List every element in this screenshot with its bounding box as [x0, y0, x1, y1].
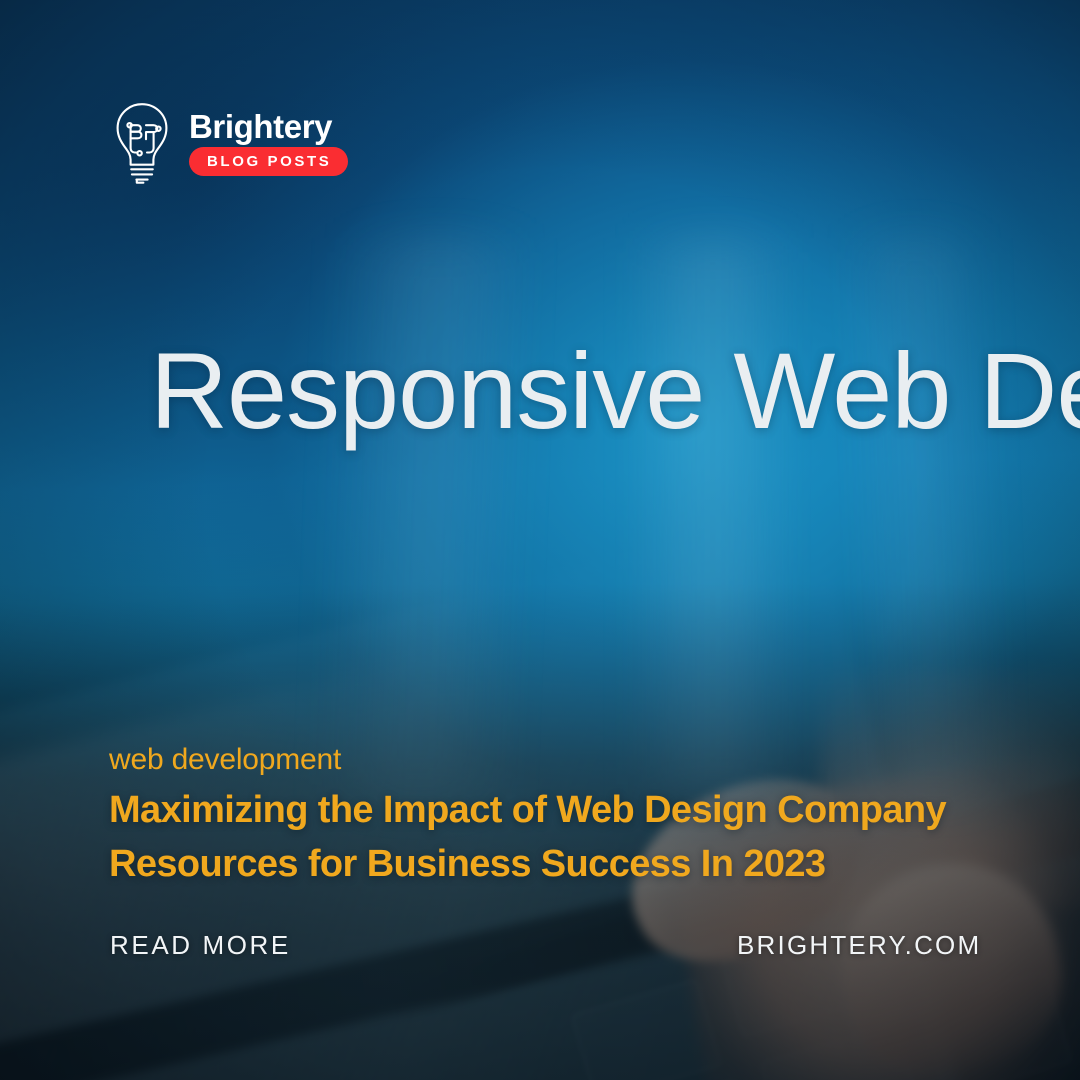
headline-line-1: Maximizing the Impact of Web Design Comp… — [109, 783, 946, 837]
post-category[interactable]: web development — [109, 745, 341, 775]
blog-post-card: Brightery BLOG POSTS Responsive Web De w… — [0, 0, 1080, 1080]
brand-logo[interactable]: Brightery BLOG POSTS — [109, 101, 348, 185]
lightbulb-monogram-icon — [109, 101, 175, 185]
hero-title: Responsive Web De — [150, 332, 1080, 451]
card-content: Brightery BLOG POSTS Responsive Web De w… — [0, 0, 1080, 1080]
post-headline: Maximizing the Impact of Web Design Comp… — [109, 783, 946, 891]
brand-wordmark: Brightery — [189, 110, 332, 143]
blog-posts-badge: BLOG POSTS — [189, 147, 348, 176]
headline-line-2: Resources for Business Success In 2023 — [109, 837, 946, 891]
logo-text-block: Brightery BLOG POSTS — [189, 110, 348, 176]
read-more-button[interactable]: READ MORE — [110, 932, 291, 958]
site-url-label: BRIGHTERY.COM — [737, 932, 981, 958]
